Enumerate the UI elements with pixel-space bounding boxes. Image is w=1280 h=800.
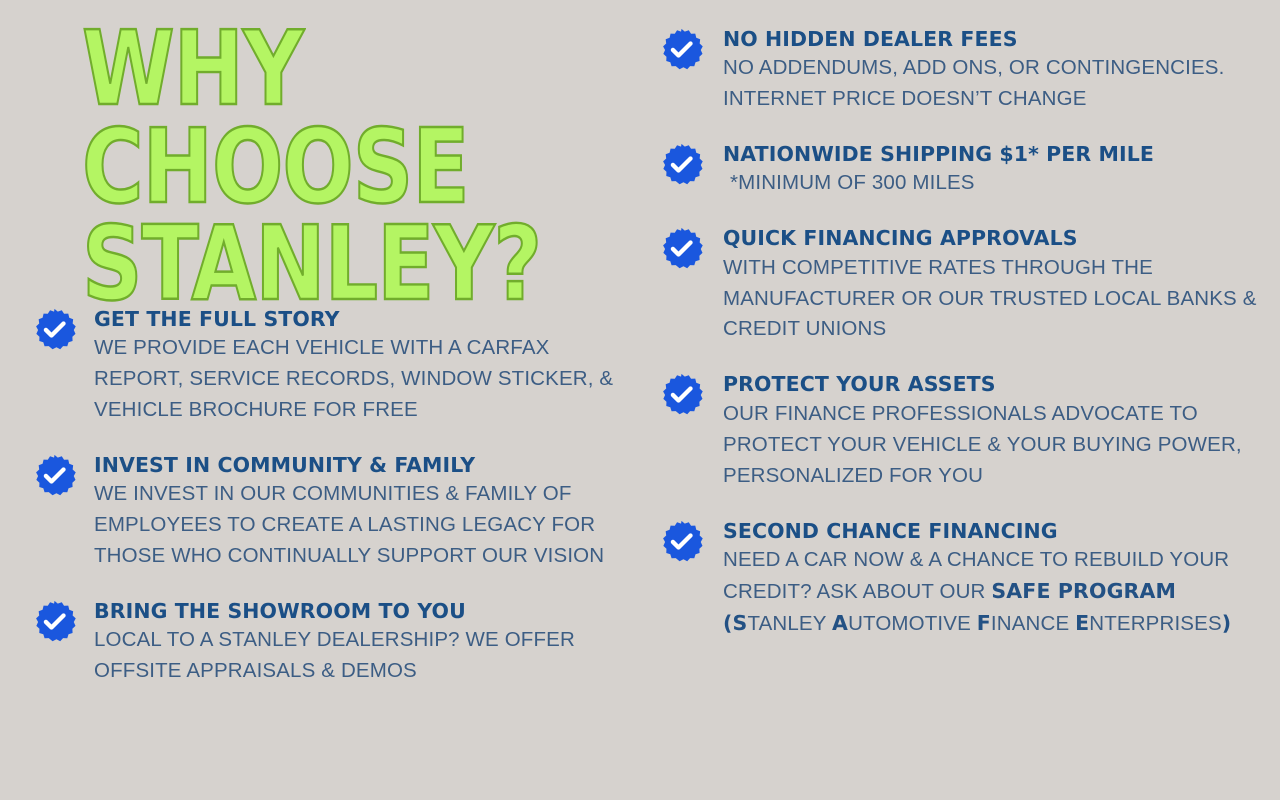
feature-description: WE PROVIDE EACH VEHICLE WITH A CARFAX RE… [94, 333, 620, 426]
feature-text: NO HIDDEN DEALER FEES NO ADDENDUMS, ADD … [703, 26, 1268, 115]
page-title: WHY CHOOSE STANLEY? [82, 20, 602, 313]
feature-description: OUR FINANCE PROFESSIONALS ADVOCATE TO PR… [723, 399, 1268, 492]
features-right-column: NO HIDDEN DEALER FEES NO ADDENDUMS, ADD … [628, 26, 1268, 666]
page-title-line-1: WHY [82, 20, 602, 118]
feature-text: INVEST IN COMMUNITY & FAMILY WE INVEST I… [76, 452, 620, 572]
why-choose-stanley-graphic: WHY CHOOSE STANLEY? GET THE FULL STORY W… [0, 0, 1280, 800]
verified-check-badge-icon [33, 308, 76, 351]
desc-segment-bold: ) [1222, 611, 1232, 635]
feature-title: NATIONWIDE SHIPPING $1* PER MILE [723, 141, 1268, 167]
feature-title: BRING THE SHOWROOM TO YOU [94, 598, 620, 624]
feature-description: LOCAL TO A STANLEY DEALERSHIP? WE OFFER … [94, 625, 620, 687]
feature-text: BRING THE SHOWROOM TO YOU LOCAL TO A STA… [76, 598, 620, 687]
feature-item: BRING THE SHOWROOM TO YOU LOCAL TO A STA… [0, 598, 620, 687]
feature-item: NO HIDDEN DEALER FEES NO ADDENDUMS, ADD … [628, 26, 1268, 115]
feature-item: SECOND CHANCE FINANCING NEED A CAR NOW &… [628, 518, 1268, 640]
feature-text: NATIONWIDE SHIPPING $1* PER MILE *MINIMU… [703, 141, 1268, 199]
feature-item: PROTECT YOUR ASSETS OUR FINANCE PROFESSI… [628, 371, 1268, 491]
feature-item: QUICK FINANCING APPROVALS WITH COMPETITI… [628, 225, 1268, 345]
page-title-line-3: STANLEY? [82, 215, 602, 313]
feature-text: SECOND CHANCE FINANCING NEED A CAR NOW &… [703, 518, 1268, 640]
feature-description: NO ADDENDUMS, ADD ONS, OR CONTINGENCIES.… [723, 53, 1268, 115]
feature-text: GET THE FULL STORY WE PROVIDE EACH VEHIC… [76, 306, 620, 426]
page-title-line-2: CHOOSE [82, 118, 602, 216]
desc-segment-plain: INANCE [991, 612, 1075, 635]
desc-segment-bold: F [977, 611, 991, 635]
verified-check-badge-icon [660, 143, 703, 186]
feature-text: PROTECT YOUR ASSETS OUR FINANCE PROFESSI… [703, 371, 1268, 491]
verified-check-badge-icon [33, 454, 76, 497]
feature-description: WITH COMPETITIVE RATES THROUGH THE MANUF… [723, 253, 1268, 346]
features-left-column: GET THE FULL STORY WE PROVIDE EACH VEHIC… [0, 306, 620, 713]
feature-description: WE INVEST IN OUR COMMUNITIES & FAMILY OF… [94, 479, 620, 572]
feature-title: PROTECT YOUR ASSETS [723, 371, 1268, 397]
feature-title: QUICK FINANCING APPROVALS [723, 225, 1268, 251]
desc-segment-plain: UTOMOTIVE [848, 612, 977, 635]
desc-segment-plain: TANLEY [747, 612, 832, 635]
feature-description: NEED A CAR NOW & A CHANCE TO REBUILD YOU… [723, 545, 1268, 640]
desc-segment-bold: A [832, 611, 848, 635]
feature-title: INVEST IN COMMUNITY & FAMILY [94, 452, 620, 478]
feature-item: GET THE FULL STORY WE PROVIDE EACH VEHIC… [0, 306, 620, 426]
desc-segment-bold: E [1075, 611, 1089, 635]
feature-item: NATIONWIDE SHIPPING $1* PER MILE *MINIMU… [628, 141, 1268, 199]
feature-title: GET THE FULL STORY [94, 306, 620, 332]
verified-check-badge-icon [660, 227, 703, 270]
feature-item: INVEST IN COMMUNITY & FAMILY WE INVEST I… [0, 452, 620, 572]
verified-check-badge-icon [660, 28, 703, 71]
desc-segment-plain: NTERPRISES [1089, 612, 1222, 635]
feature-title: NO HIDDEN DEALER FEES [723, 26, 1268, 52]
verified-check-badge-icon [660, 520, 703, 563]
feature-description: *MINIMUM OF 300 MILES [723, 168, 1268, 199]
feature-text: QUICK FINANCING APPROVALS WITH COMPETITI… [703, 225, 1268, 345]
verified-check-badge-icon [33, 600, 76, 643]
feature-title: SECOND CHANCE FINANCING [723, 518, 1268, 544]
verified-check-badge-icon [660, 373, 703, 416]
